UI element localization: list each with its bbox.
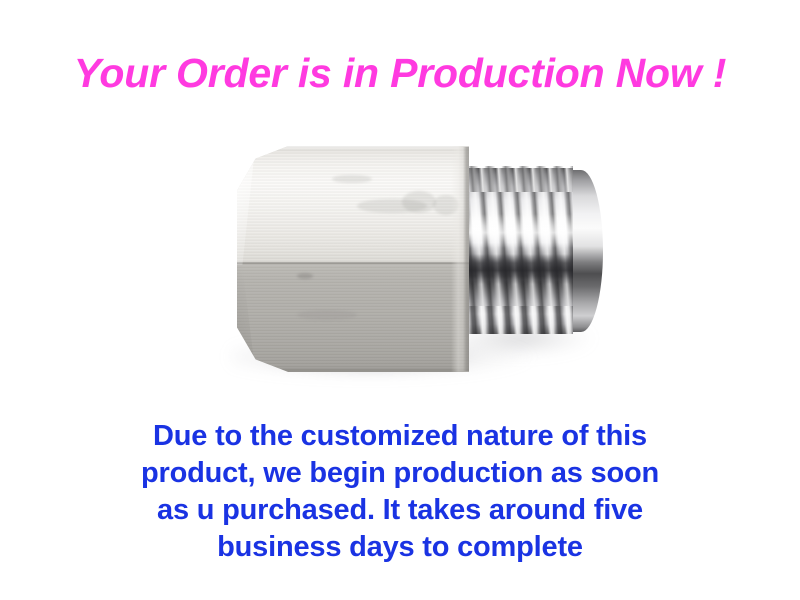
- notice-line: Due to the customized nature of this: [0, 418, 800, 455]
- hex-lower-brush-marks: [237, 265, 469, 373]
- hex-body: [237, 145, 469, 373]
- hex-thread-junction-seam: [463, 147, 469, 371]
- product-image: [215, 125, 615, 400]
- hex-surface-mark: [297, 273, 313, 279]
- notice-line: product, we begin production as soon: [0, 455, 800, 492]
- hex-surface-mark: [297, 310, 357, 320]
- headline-text: Your Order is in Production Now !: [0, 50, 800, 97]
- notice-line: as u purchased. It takes around five: [0, 492, 800, 529]
- hex-top-edge-highlight: [237, 145, 469, 150]
- notice-line: business days to complete: [0, 529, 800, 566]
- production-notice: Due to the customized nature of this pro…: [0, 418, 800, 566]
- hex-surface-mark: [402, 191, 436, 213]
- hex-facet-parting-line: [237, 262, 469, 265]
- promo-banner-page: Your Order is in Production Now !: [0, 0, 800, 600]
- hex-surface-mark: [332, 175, 372, 183]
